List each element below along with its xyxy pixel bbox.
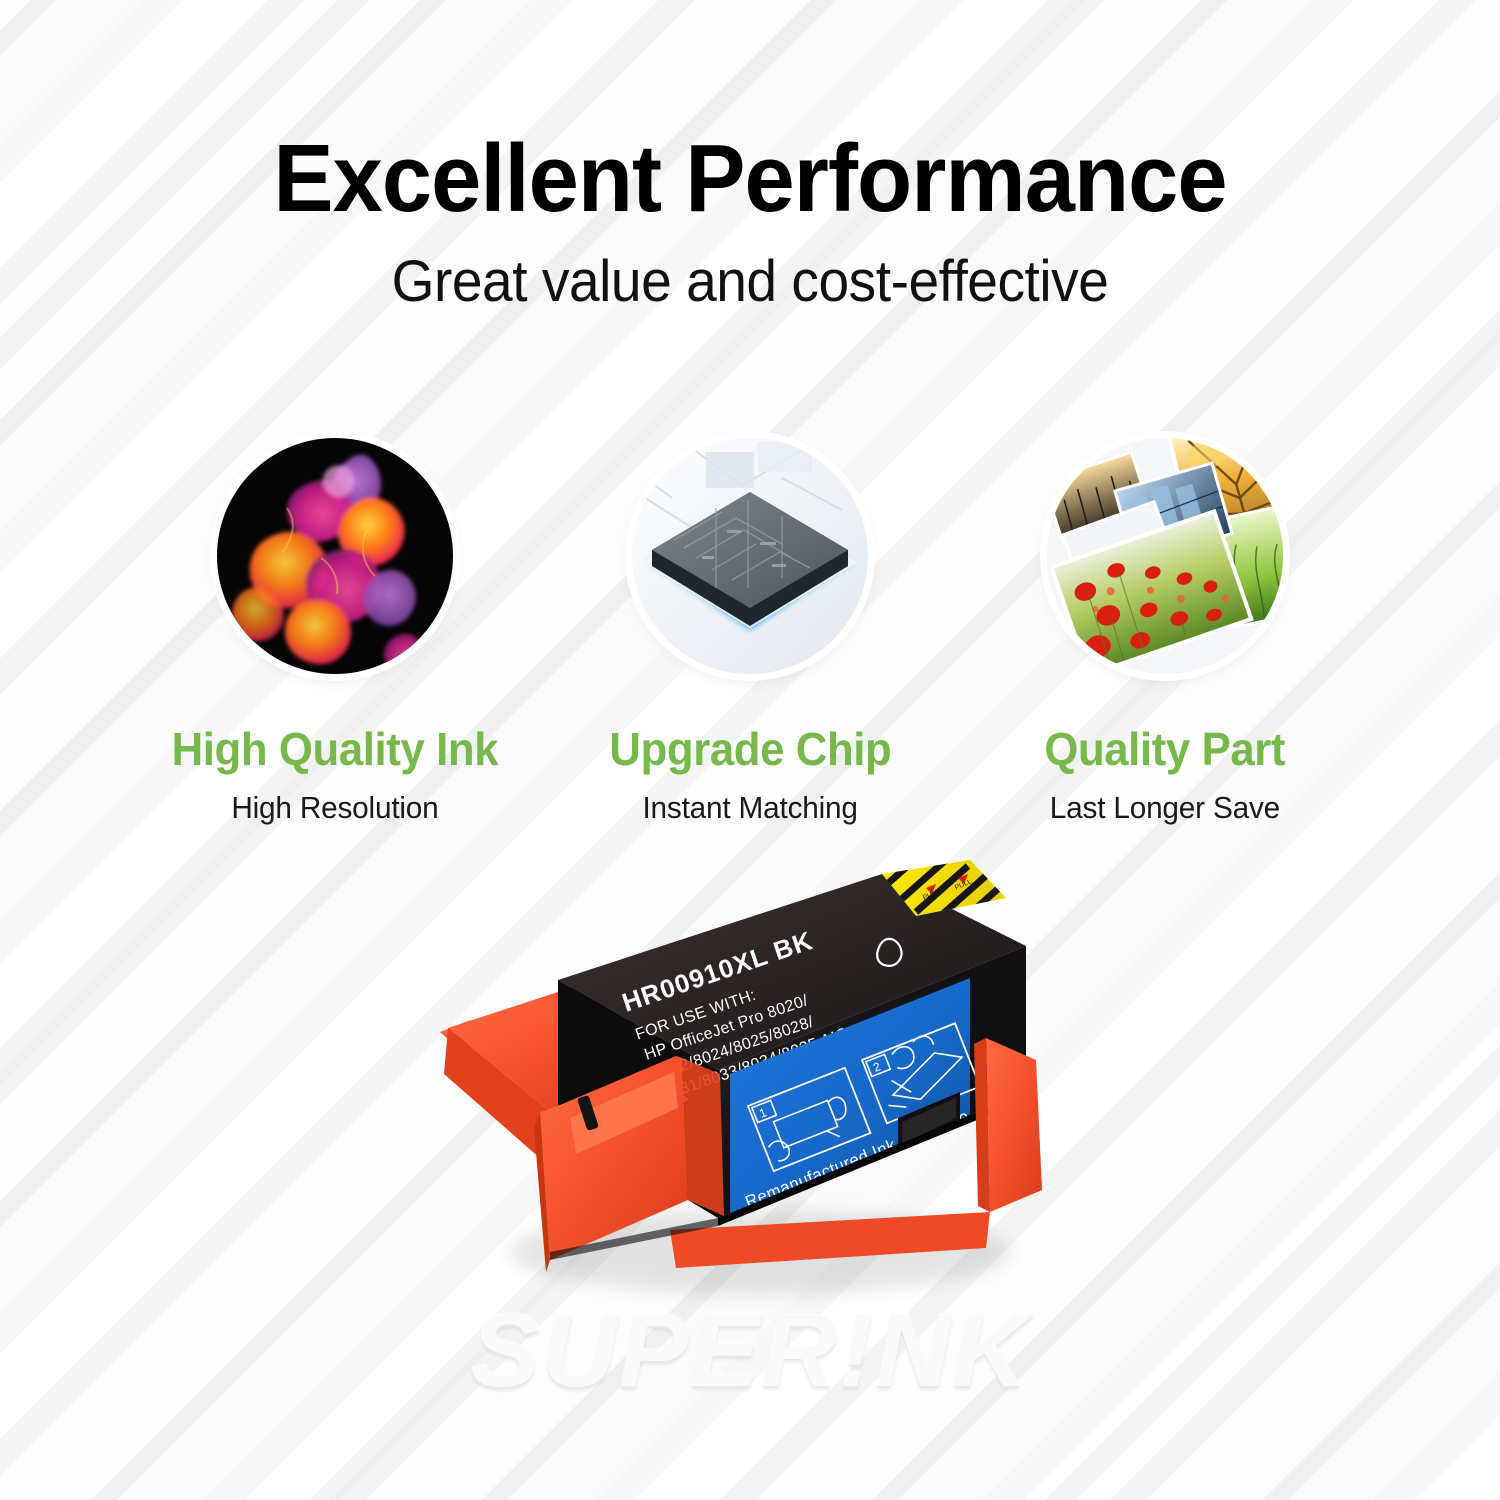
feature-title: High Quality Ink xyxy=(172,722,499,776)
watermark-logo: SUPER!NK xyxy=(0,1292,1500,1411)
feature-item-high-quality-ink: High Quality Ink High Resolution xyxy=(140,438,530,826)
feature-item-upgrade-chip: Upgrade Chip Instant Matching xyxy=(555,438,945,826)
feature-title: Quality Part xyxy=(1045,722,1286,776)
feature-list: High Quality Ink High Resolution xyxy=(140,438,1360,826)
feature-subtitle: Last Longer Save xyxy=(1050,790,1280,826)
feature-title: Upgrade Chip xyxy=(609,722,891,776)
ink-splash-image xyxy=(217,438,453,674)
feature-item-quality-part: Quality Part Last Longer Save xyxy=(970,438,1360,826)
feature-subtitle: High Resolution xyxy=(231,790,438,826)
page-header: Excellent Performance Great value and co… xyxy=(0,128,1500,315)
feature-subtitle: Instant Matching xyxy=(642,790,857,826)
clip-right-wall xyxy=(986,1038,1042,1212)
ink-cartridge-product-image: HR00910XL BK FOR USE WITH: HP OfficeJet … xyxy=(430,860,1090,1310)
microchip-image xyxy=(632,438,868,674)
page-title: Excellent Performance xyxy=(45,128,1455,230)
page-subtitle: Great value and cost-effective xyxy=(38,248,1463,315)
photo-prints-image xyxy=(1047,438,1283,674)
product-feature-page: Excellent Performance Great value and co… xyxy=(0,0,1500,1500)
